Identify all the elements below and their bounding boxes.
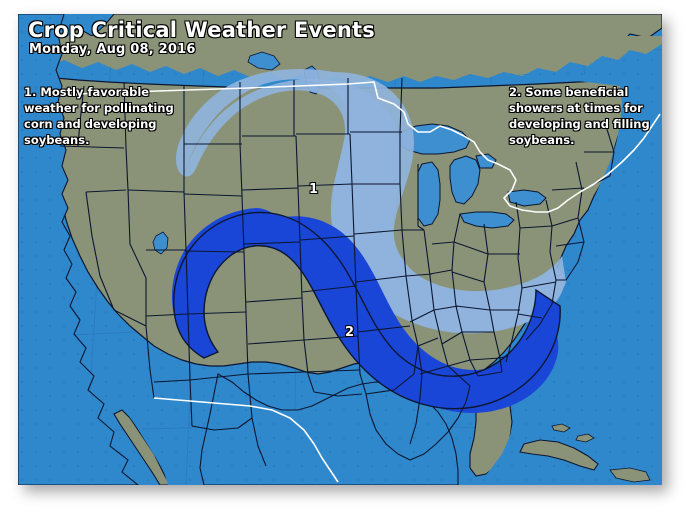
weather-map-page: Crop Critical Weather Events Monday, Aug… <box>0 0 692 512</box>
map-region-label-1: 1 <box>309 182 318 197</box>
lake-michigan <box>418 162 440 226</box>
annotation-note-2: 2. Some beneficial showers at times for … <box>509 84 650 148</box>
page-title: Crop Critical Weather Events <box>28 18 375 42</box>
map-region-label-2: 2 <box>345 325 354 340</box>
annotation-note-1: 1. Mostly favorable weather for pollinat… <box>24 84 174 148</box>
page-date: Monday, Aug 08, 2016 <box>29 42 196 57</box>
